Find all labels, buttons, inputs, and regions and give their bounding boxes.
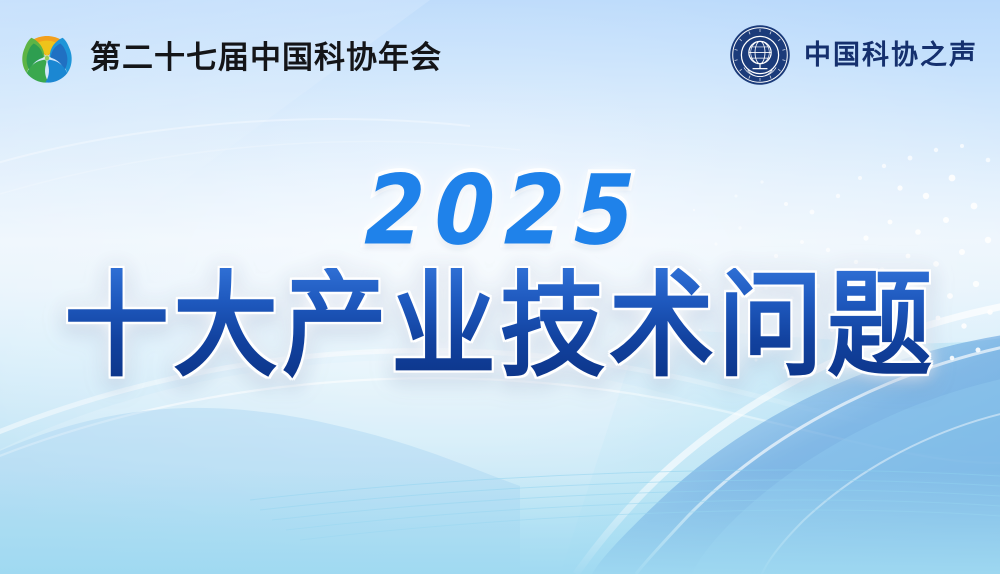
year-heading: 2025 (354, 163, 646, 259)
broadcast-brand: 中国科协之声 (729, 24, 978, 86)
pinwheel-logo-icon (18, 29, 76, 87)
banner-header: 第二十七届中国科协年会 (0, 0, 1000, 132)
page-title: 十大产业技术问题 (64, 268, 936, 384)
cast-globe-seal-icon (729, 24, 791, 86)
conference-title: 第二十七届中国科协年会 (90, 43, 442, 74)
broadcast-title: 中国科协之声 (804, 42, 978, 69)
banner-titles: 2025 十大产业技术问题 (0, 168, 1000, 373)
conference-brand: 第二十七届中国科协年会 (18, 29, 442, 87)
conference-banner: 第二十七届中国科协年会 (0, 0, 1000, 574)
